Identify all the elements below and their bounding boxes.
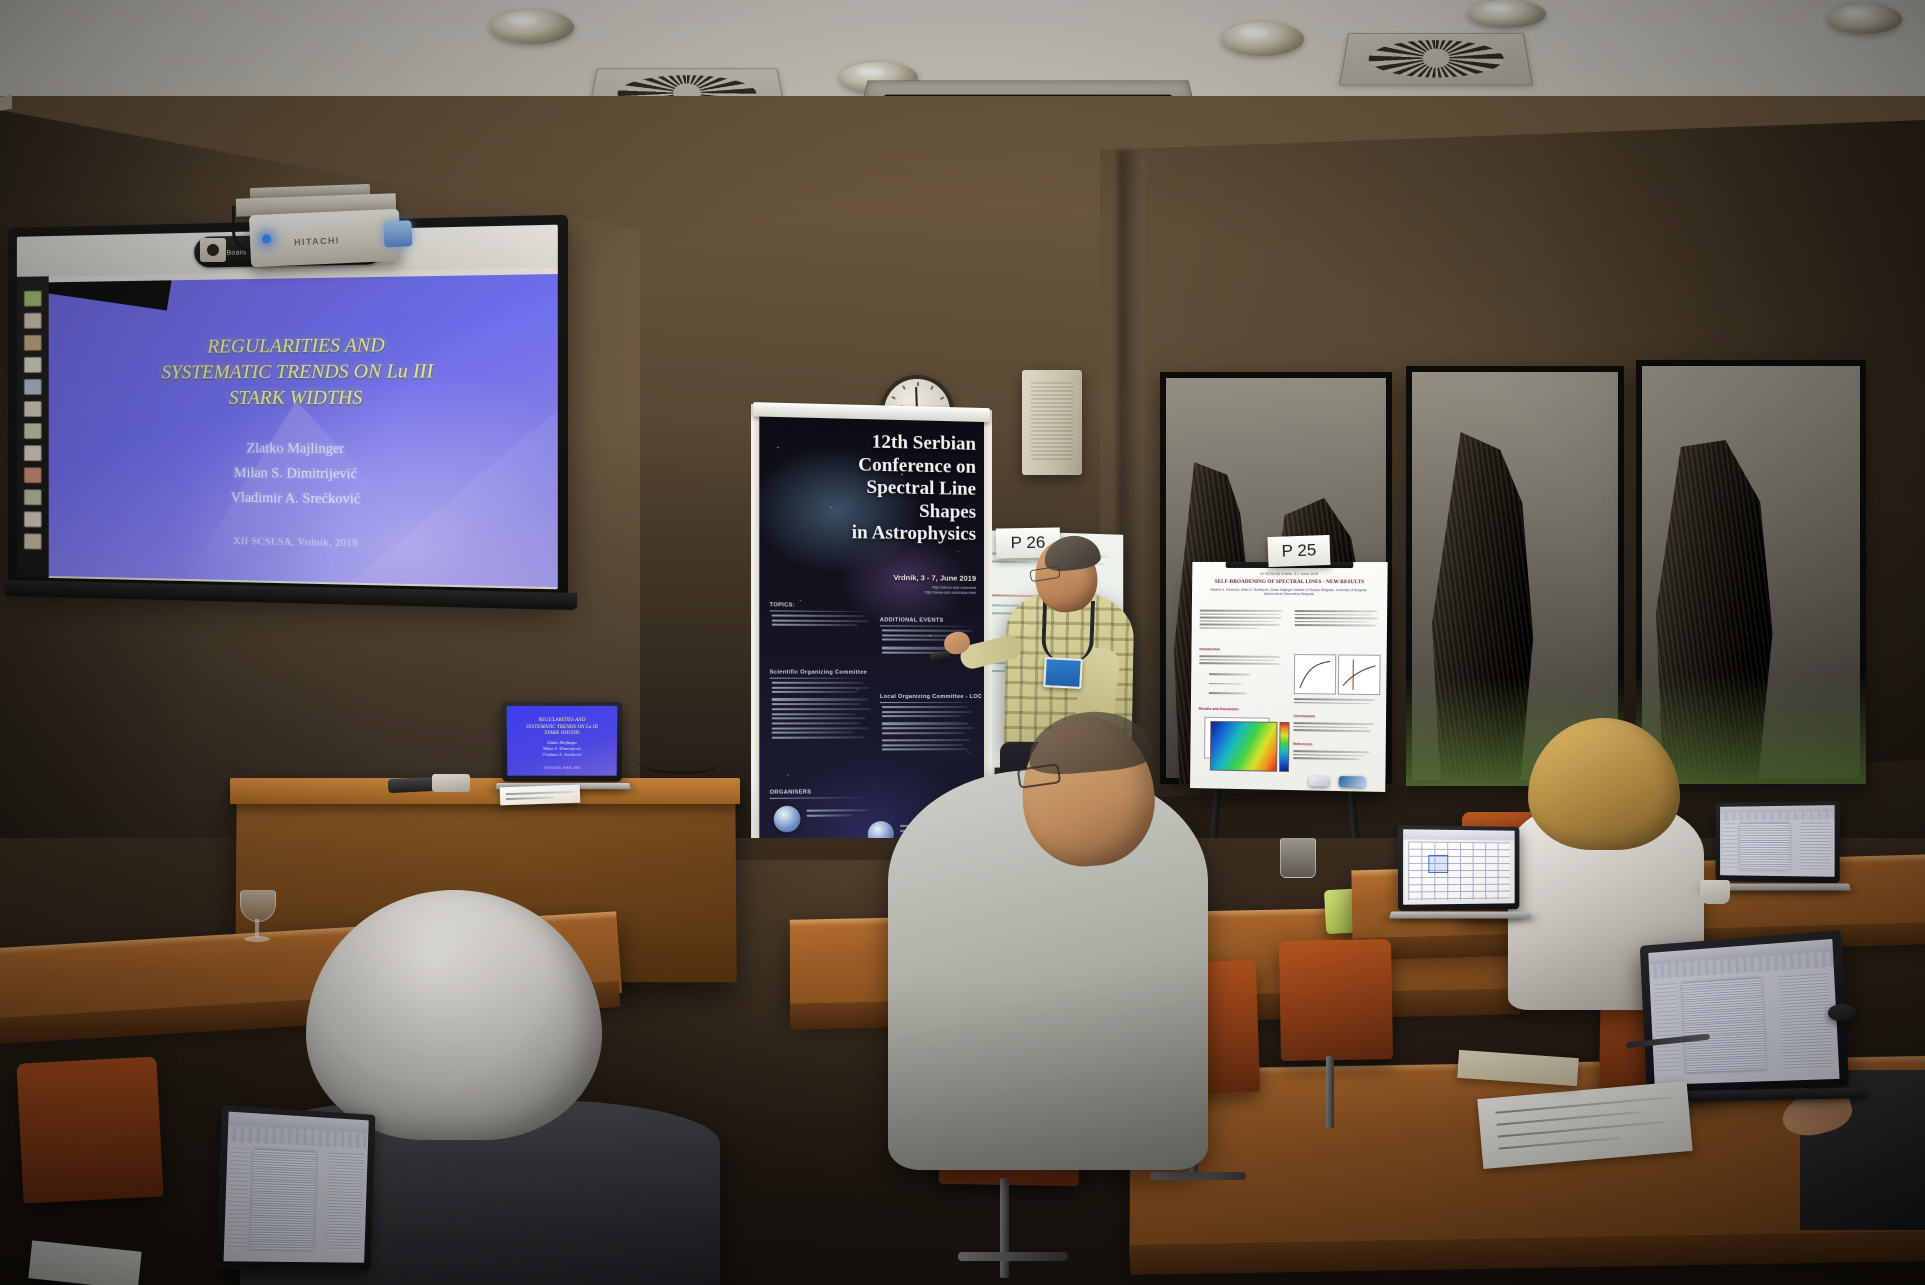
line-plot-svg xyxy=(1295,655,1335,694)
glass-bowl xyxy=(1280,838,1316,878)
text-line xyxy=(882,727,974,729)
slide-title-line-1: REGULARITIES AND xyxy=(49,332,558,362)
conference-badge xyxy=(1043,657,1083,689)
text-line xyxy=(1294,702,1370,704)
color-tool-icon[interactable] xyxy=(24,467,42,483)
laptop-screen xyxy=(1648,939,1839,1085)
laptop-screen xyxy=(1403,829,1515,904)
text-line xyxy=(1293,757,1359,760)
document-panel[interactable] xyxy=(1778,973,1833,1070)
document-window xyxy=(1648,939,1839,1085)
poster-p25: XII SCSLSA Vrdnik, 3-7 June 2019 SELF-BR… xyxy=(1190,562,1388,792)
paper-rule xyxy=(1497,1121,1664,1137)
wine-glass xyxy=(240,890,274,944)
chair[interactable] xyxy=(16,1056,163,1203)
speaker-bracket xyxy=(0,95,12,112)
text-line xyxy=(1295,617,1379,619)
banner-topics-text xyxy=(772,614,870,629)
presenter-desk-top xyxy=(230,778,740,804)
laptop-lid xyxy=(1640,930,1849,1093)
laptop-screen: REGULARITIES AND SYSTEMATIC TRENDS ON Lu… xyxy=(507,706,618,776)
projector-brand-label: HITACHI xyxy=(294,235,340,247)
desk-remote-device[interactable] xyxy=(388,777,437,793)
poster-column-right-4 xyxy=(1293,750,1377,762)
ceiling-dome-light xyxy=(490,10,574,44)
spreadsheet-grid[interactable] xyxy=(1408,841,1511,900)
slide-title: REGULARITIES AND SYSTEMATIC TRENDS ON Lu… xyxy=(49,332,558,412)
document-page[interactable] xyxy=(250,1149,316,1251)
document-sidebar[interactable] xyxy=(1722,823,1736,870)
glass-stem xyxy=(255,919,259,937)
text-line xyxy=(772,717,866,719)
chair-leg xyxy=(1150,1172,1246,1180)
text-line xyxy=(807,814,854,817)
laptop-lid xyxy=(1398,825,1519,911)
text-line xyxy=(1200,617,1282,619)
laptop-lid xyxy=(216,1105,375,1271)
clock-tick xyxy=(902,386,905,390)
text-line xyxy=(882,706,967,708)
ceiling-dome-light xyxy=(1222,22,1304,56)
text-line xyxy=(772,708,871,710)
text-line xyxy=(772,691,858,693)
slide-title-line-2: SYSTEMATIC TRENDS ON Lu III xyxy=(49,359,558,387)
document-panel[interactable] xyxy=(1800,822,1831,871)
document-window xyxy=(224,1112,369,1263)
shape-tool-icon[interactable] xyxy=(24,335,42,351)
banner-urls: http://servo.aob.rs/scslsa http://www.ao… xyxy=(845,584,976,596)
document-panel[interactable] xyxy=(325,1153,363,1252)
clock-tick xyxy=(891,396,895,399)
poster-label-p25: P 25 xyxy=(1267,535,1330,567)
line-plot-svg xyxy=(1339,655,1380,694)
laptop-screen xyxy=(224,1112,369,1263)
whiteboard-tool-strip[interactable] xyxy=(17,276,49,578)
text-line xyxy=(882,748,968,750)
pen-tool-icon[interactable] xyxy=(24,290,42,306)
text-line xyxy=(772,713,856,715)
text-line xyxy=(1199,655,1280,657)
select-tool-icon[interactable] xyxy=(24,401,42,417)
banner-date: Vrdnik, 3 - 7, June 2019 xyxy=(845,572,976,582)
banner-title-line-4: Shapes xyxy=(768,498,976,524)
poster-line-plot-right-b xyxy=(1338,654,1381,695)
text-line xyxy=(882,715,961,717)
banner-title-line-5: in Astrophysics xyxy=(768,521,976,547)
text-line xyxy=(882,739,971,741)
text-line xyxy=(1295,624,1376,626)
projector-lens-icon xyxy=(383,220,412,247)
poster-section-refs: References xyxy=(1293,742,1312,746)
zoom-tool-icon[interactable] xyxy=(24,423,42,439)
text-line xyxy=(807,809,868,812)
poster-logo xyxy=(1309,776,1329,786)
poster-line-plot-right-a xyxy=(1294,654,1336,695)
paper-rule xyxy=(506,791,573,795)
ceiling-dome-light xyxy=(1828,4,1902,34)
text-line xyxy=(1200,627,1260,629)
clock-tick xyxy=(917,382,919,386)
text-line xyxy=(1293,754,1364,757)
computer-mouse[interactable] xyxy=(1828,1004,1856,1021)
text-line xyxy=(772,614,864,617)
text-line xyxy=(772,722,860,724)
poster-column-left xyxy=(1200,610,1283,631)
text-line xyxy=(882,732,965,734)
wall-speaker xyxy=(1022,370,1082,475)
text-line xyxy=(882,723,969,725)
chair-leg xyxy=(1326,1056,1334,1128)
text-line xyxy=(1293,729,1371,732)
slide-title-line-3: STARK WIDTHS xyxy=(49,386,558,413)
text-line xyxy=(772,732,854,734)
eraser-tool-icon[interactable] xyxy=(24,313,42,329)
poster-column-right-2 xyxy=(1294,698,1378,706)
paper-rule xyxy=(1498,1137,1619,1149)
poster-logo xyxy=(1339,776,1365,788)
ceiling-projector: HITACHI xyxy=(249,209,401,267)
text-line xyxy=(882,744,963,746)
document-sidebar[interactable] xyxy=(227,1148,249,1250)
settings-tool-icon[interactable] xyxy=(24,489,42,505)
banner-soc-text xyxy=(772,682,872,742)
poster-column-right-3 xyxy=(1293,722,1377,734)
banner-title: 12th Serbian Conference on Spectral Line… xyxy=(768,429,976,546)
undo-tool-icon[interactable] xyxy=(24,357,42,373)
water-glass xyxy=(1280,838,1314,892)
mini-slide-footer: XII SCSLSA, Vrdnik, 2019 xyxy=(507,766,617,770)
paper-rule xyxy=(506,796,554,799)
wall-art-panel xyxy=(1636,360,1866,784)
glass-bowl xyxy=(240,890,276,922)
clock-tick xyxy=(930,386,933,390)
text-line xyxy=(1295,614,1374,616)
spreadsheet-toolbar[interactable] xyxy=(1403,829,1515,841)
text-line xyxy=(1295,621,1369,623)
desk-cable xyxy=(636,746,726,774)
mini-slide-authors: Zlatko Majlinger Milan S. Dimitrijević V… xyxy=(507,740,617,758)
slide-author-3: Vladimir A. Srećković xyxy=(49,483,558,514)
laptop-screen xyxy=(1720,805,1835,877)
conference-room-photo: StarBoard HITACHI xyxy=(0,0,1925,1285)
projected-slide: REGULARITIES AND SYSTEMATIC TRENDS ON Lu… xyxy=(49,274,558,587)
clock-tick xyxy=(940,396,944,399)
page-tool-icon[interactable] xyxy=(24,445,42,461)
chair-leg xyxy=(1000,1178,1009,1278)
text-line xyxy=(1200,620,1275,622)
document-page[interactable] xyxy=(1740,823,1790,871)
spreadsheet-window xyxy=(1403,829,1515,904)
chair-leg xyxy=(958,1252,1068,1261)
text-line xyxy=(1200,623,1280,625)
text-line xyxy=(772,698,868,700)
poster-p25-title: SELF-BROADENING OF SPECTRAL LINES - NEW … xyxy=(1198,579,1381,585)
text-line xyxy=(772,682,864,684)
vent-radial-blades xyxy=(1366,40,1506,77)
text-line xyxy=(772,736,865,738)
laptop-lid xyxy=(1715,801,1839,883)
wall-power-outlet xyxy=(200,238,226,262)
whiteboard-surface: StarBoard HITACHI xyxy=(17,225,558,590)
text-line xyxy=(772,619,869,622)
text-line xyxy=(772,703,862,705)
banner-heading-additional: ADDITIONAL EVENTS xyxy=(880,617,944,623)
chair[interactable] xyxy=(1279,939,1393,1061)
paper-rule xyxy=(1495,1096,1671,1113)
poster-section-results: Results and Discussion xyxy=(1199,707,1239,712)
poster-equations xyxy=(1209,673,1272,696)
text-line xyxy=(1200,613,1280,615)
banner-heading-loc: Local Organizing Committee - LOC xyxy=(880,694,982,700)
mini-slide-title: REGULARITIES AND SYSTEMATIC TRENDS ON Lu… xyxy=(507,717,617,737)
organiser-1-text xyxy=(807,809,870,819)
poster-p25-header: XII SCSLSA Vrdnik, 3-7 June 2019 xyxy=(1192,572,1387,576)
equation-line xyxy=(1209,683,1243,685)
poster-heatmap xyxy=(1210,721,1278,772)
desk-papers xyxy=(500,785,581,806)
text-line xyxy=(1295,610,1378,612)
slide-author-list: Zlatko Majlinger Milan S. Dimitrijević V… xyxy=(49,435,558,514)
mini-author-3: Vladimir A. Srećković xyxy=(507,752,617,758)
text-line xyxy=(1293,750,1369,753)
text-line xyxy=(1199,662,1279,664)
glass-foot xyxy=(244,936,270,942)
text-line xyxy=(772,686,870,688)
poster-column-right xyxy=(1294,610,1379,628)
poster-p25-authors: Vladimir A. Srećković, Milan S. Dimitrij… xyxy=(1202,588,1377,597)
slide-author-1: Zlatko Majlinger xyxy=(49,435,558,463)
desk-power-brick xyxy=(432,774,470,792)
ceiling-dome-light xyxy=(1468,0,1546,28)
text-line xyxy=(772,727,869,729)
text-line xyxy=(882,711,972,713)
save-tool-icon[interactable] xyxy=(24,379,42,395)
mini-title-2: SYSTEMATIC TRENDS ON Lu III xyxy=(507,724,617,731)
close-tool-icon[interactable] xyxy=(24,533,42,549)
banner-loc-text xyxy=(882,706,976,753)
ceiling-vent-diffuser xyxy=(1339,33,1533,85)
document-page[interactable] xyxy=(1681,977,1766,1073)
mirrored-slide: REGULARITIES AND SYSTEMATIC TRENDS ON Lu… xyxy=(507,706,618,776)
equation-line xyxy=(1209,692,1247,694)
banner-heading-organisers: ORGANISERS xyxy=(770,789,812,795)
text-line xyxy=(1294,698,1376,701)
projector-power-led xyxy=(262,234,271,243)
text-line xyxy=(1199,659,1275,661)
text-line xyxy=(1293,726,1367,729)
document-window xyxy=(1720,805,1835,877)
laptop-base[interactable] xyxy=(1389,912,1531,919)
document-ribbon[interactable] xyxy=(1720,812,1835,821)
organiser-logo-icon xyxy=(774,806,801,833)
text-line xyxy=(1293,722,1373,725)
laptop-lid: REGULARITIES AND SYSTEMATIC TRENDS ON Lu… xyxy=(502,702,623,782)
mini-title-3: STARK WIDTHS xyxy=(507,730,617,737)
paper-rule xyxy=(1496,1111,1643,1125)
poster-section-intro: Introduction xyxy=(1199,647,1220,651)
text-line xyxy=(1200,610,1283,612)
coffee-cup xyxy=(1700,880,1730,904)
help-tool-icon[interactable] xyxy=(24,511,42,527)
poster-section-conclusion: Conclusions xyxy=(1294,714,1316,718)
banner-heading-topics: TOPICS: xyxy=(770,602,795,608)
poster-column-left-2 xyxy=(1199,655,1282,666)
poster-colorbar xyxy=(1279,722,1289,772)
interactive-whiteboard[interactable]: StarBoard HITACHI xyxy=(8,215,568,599)
banner-heading-soc: Scientific Organizing Committee xyxy=(770,669,867,675)
equation-line xyxy=(1209,673,1251,675)
document-sidebar[interactable] xyxy=(1653,983,1680,1074)
text-line xyxy=(772,624,858,627)
spreadsheet-selection xyxy=(1428,855,1448,873)
